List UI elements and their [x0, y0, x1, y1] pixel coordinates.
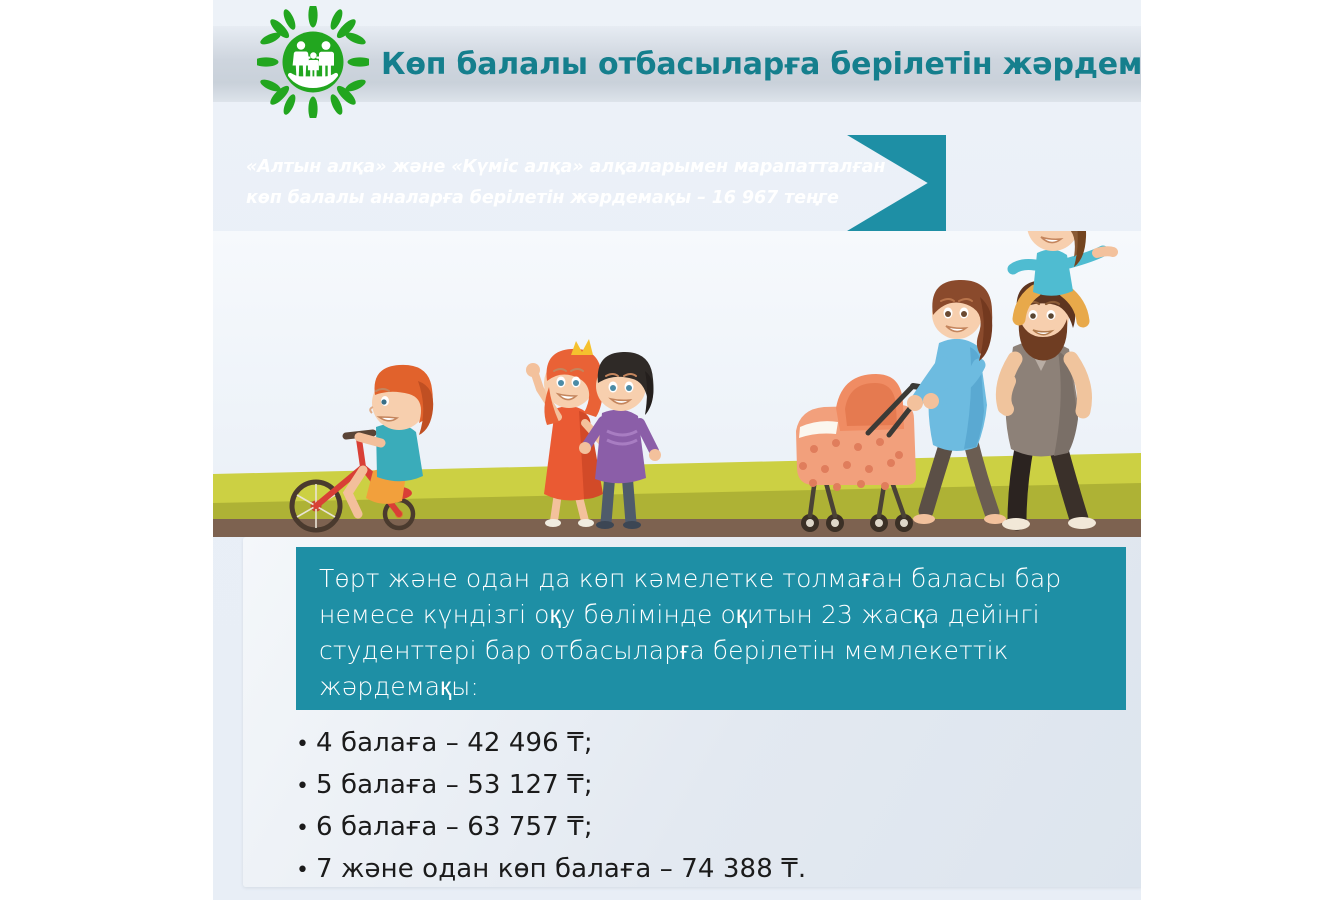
bullet-text: 5 балаға – 53 127 ₸;	[316, 765, 593, 806]
eligibility-line-4: жәрдемақы:	[319, 669, 1109, 705]
ribbon-line-1: «Алтын алқа» және «Күміс алқа» алқаларым…	[246, 152, 886, 183]
list-item: • 7 және одан көп балаға – 74 388 ₸.	[296, 849, 1126, 891]
eligibility-description-text: Төрт және одан да көп кәмелетке толмаған…	[319, 561, 1109, 705]
ribbon-text: «Алтын алқа» және «Күміс алқа» алқаларым…	[246, 152, 886, 214]
eligibility-line-3: студенттері бар отбасыларға берілетін ме…	[319, 633, 1109, 669]
ribbon-line-2: көп балалы аналарға берілетін жәрдемақы …	[246, 183, 886, 214]
infographic-page: Көп балалы отбасыларға берілетін жәрдема…	[0, 0, 1343, 900]
bullet-marker: •	[296, 724, 316, 765]
bullet-text: 7 және одан көп балаға – 74 388 ₸.	[316, 849, 806, 890]
benefit-amounts-list: • 4 балаға – 42 496 ₸; • 5 балаға – 53 1…	[296, 723, 1126, 891]
benefits-panel: Төрт және одан да көп кәмелетке толмаған…	[243, 537, 1141, 887]
list-item: • 4 балаға – 42 496 ₸;	[296, 723, 1126, 765]
eligibility-description-box: Төрт және одан да көп кәмелетке толмаған…	[296, 547, 1126, 710]
eligibility-line-2: немесе күндізгі оқу бөлімінде оқитын 23 …	[319, 597, 1109, 633]
award-ribbon-banner: «Алтын алқа» және «Күміс алқа» алқаларым…	[213, 135, 1141, 231]
page-header: Көп балалы отбасыларға берілетін жәрдема…	[213, 0, 1141, 124]
bullet-text: 6 балаға – 63 757 ₸;	[316, 807, 593, 848]
list-item: • 6 балаға – 63 757 ₸;	[296, 807, 1126, 849]
bullet-marker: •	[296, 808, 316, 849]
infographic-content-area: Көп балалы отбасыларға берілетін жәрдема…	[213, 0, 1141, 900]
bullet-marker: •	[296, 766, 316, 807]
eligibility-line-1: Төрт және одан да көп кәмелетке толмаған…	[319, 561, 1109, 597]
family-in-hand-sun-logo	[257, 6, 369, 118]
bullet-marker: •	[296, 850, 316, 891]
list-item: • 5 балаға – 53 127 ₸;	[296, 765, 1126, 807]
bullet-text: 4 балаға – 42 496 ₸;	[316, 723, 593, 764]
page-title: Көп балалы отбасыларға берілетін жәрдема…	[381, 48, 1131, 82]
family-walking-illustration	[213, 231, 1141, 537]
